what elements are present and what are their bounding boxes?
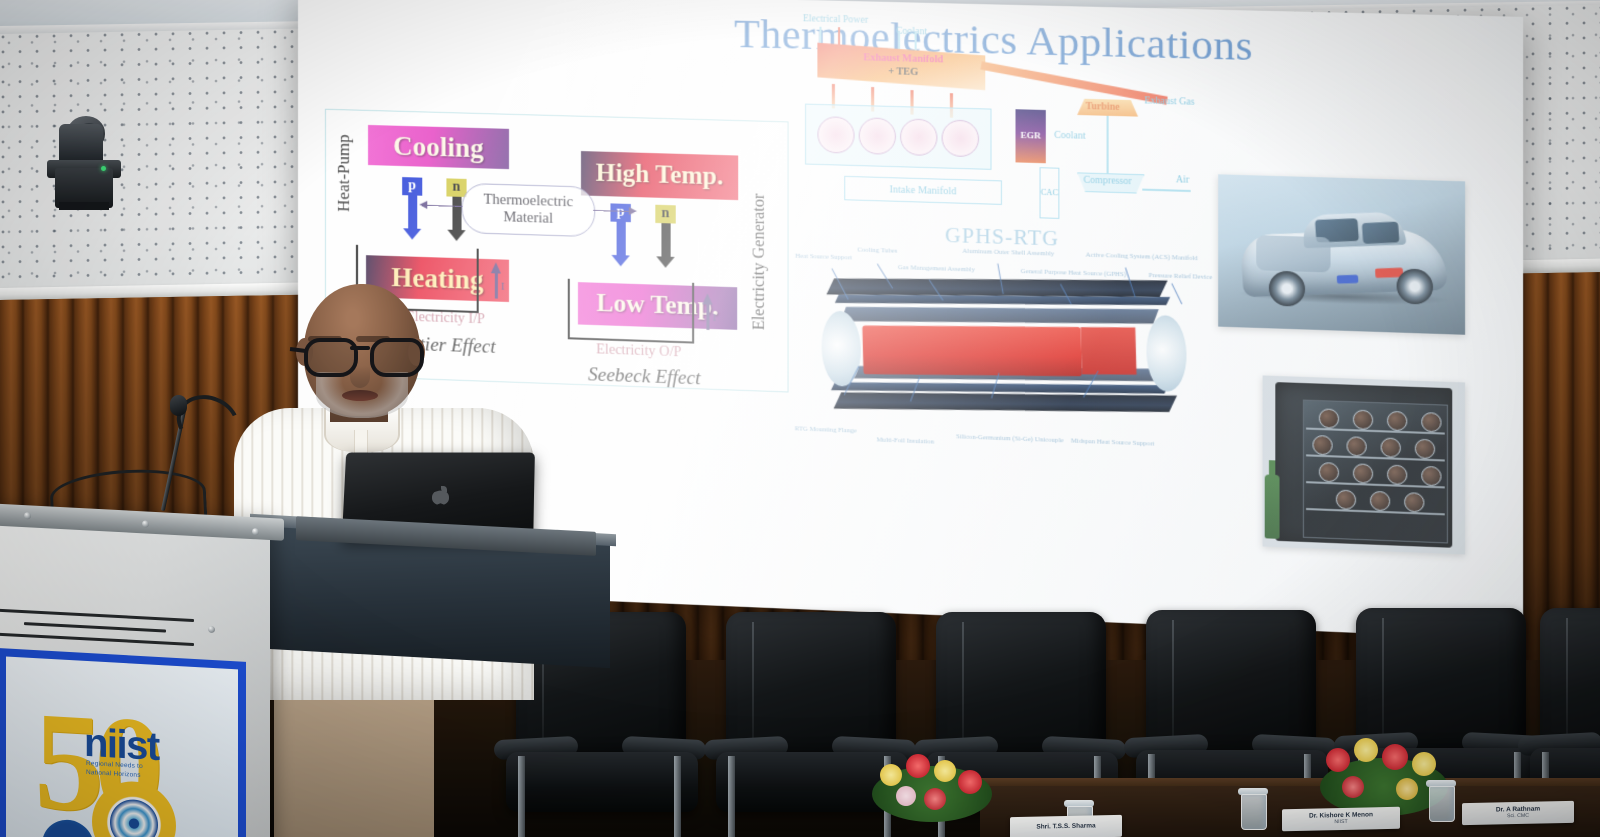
lecture-hall-scene: Thermoelectrics Applications Heat-Pump E… xyxy=(0,0,1600,837)
car-side-window xyxy=(1362,222,1400,244)
coolant-top-label: Coolant xyxy=(896,27,927,38)
bottle-7 xyxy=(1381,437,1401,457)
exhaust-pipe xyxy=(980,61,1167,104)
bottle-15 xyxy=(1404,492,1424,512)
rtg-label-5: Active Cooling System (ACS) Manifold xyxy=(1086,251,1168,261)
electricity-generator-label: Electricity Generator xyxy=(751,193,769,330)
intake-manifold-label: Intake Manifold xyxy=(889,184,956,197)
bottle-6 xyxy=(1346,436,1366,456)
podium-vent-2 xyxy=(24,622,166,632)
chair-leg-left xyxy=(518,756,525,837)
electricity-output-label: Electricity O/P xyxy=(596,342,681,361)
engine-teg-diagram: Electrical Power Coolant Exhaust Manifol… xyxy=(795,10,1212,215)
car-photo xyxy=(1218,174,1465,334)
rtg-heat-source-core-section xyxy=(1081,327,1137,375)
thermoelectric-material-box: Thermoelectric Material xyxy=(462,183,596,237)
p-leg-shaft-right xyxy=(616,222,625,256)
car-engine-cutaway xyxy=(1256,235,1330,272)
glasses-lens-right xyxy=(370,338,424,377)
nameplate-2: Dr. Kishore K Menon NIIST xyxy=(1282,807,1400,831)
bottle-1 xyxy=(1319,408,1339,428)
nameplate-2-org: NIIST xyxy=(1334,820,1347,826)
circuit-bracket-right xyxy=(568,279,694,344)
flower-red-3 xyxy=(924,788,946,810)
rtg-fin-bottom-1 xyxy=(834,392,1177,412)
standing-wine-bottle xyxy=(1265,474,1280,538)
turbine-label: Turbine xyxy=(1086,102,1120,113)
chair-leg-left xyxy=(728,756,735,837)
rtg-label-3: Aluminum Outer Shell Assembly xyxy=(962,248,1037,258)
flower-yellow-2 xyxy=(1412,752,1436,776)
bottle-5 xyxy=(1312,435,1332,455)
p-leg-arrow-right xyxy=(611,255,629,267)
egr-unit: EGR xyxy=(1016,109,1046,163)
podium-screw-3 xyxy=(252,528,259,535)
te-material-line1: Thermoelectric xyxy=(483,192,573,211)
n-leg-arrow-left xyxy=(447,230,465,242)
rtg-label-b1: Multi-Foil Insulation xyxy=(873,436,937,446)
flower-red-1 xyxy=(1326,748,1350,772)
camera-status-led xyxy=(101,166,106,171)
podium-vent-3 xyxy=(0,633,194,646)
electrical-power-label: Electrical Power xyxy=(803,14,868,26)
nameplate-1-name: Shri. T.S.S. Sharma xyxy=(1036,823,1095,831)
cooler-glass-door xyxy=(1303,400,1448,544)
bottle-13 xyxy=(1336,489,1356,509)
cylinder-2 xyxy=(859,117,896,155)
current-label-right: I xyxy=(713,312,717,324)
bottle-10 xyxy=(1353,463,1373,483)
flower-red-2 xyxy=(1382,744,1408,770)
bottle-2 xyxy=(1353,410,1373,430)
bottle-11 xyxy=(1387,465,1407,485)
speaker-mouth xyxy=(342,390,378,401)
air-inlet-line xyxy=(1142,189,1190,192)
flower-white-1 xyxy=(896,786,916,806)
speaker-trousers xyxy=(274,680,434,837)
thermoelectric-cooler-cabinet xyxy=(1275,382,1452,548)
niist-tagline: Regional Needs to National Horizons xyxy=(86,760,143,781)
bottle-12 xyxy=(1421,466,1441,486)
speaker-glasses-icon xyxy=(300,338,424,370)
water-glass-1[interactable] xyxy=(1241,794,1267,830)
podium-vent-1 xyxy=(0,609,194,622)
air-label: Air xyxy=(1176,175,1189,186)
apple-logo-icon xyxy=(432,486,449,505)
rtg-heat-source-core xyxy=(862,325,1082,376)
n-leg-arrow-right xyxy=(656,256,674,268)
p-leg-shaft-left xyxy=(408,195,417,228)
flower-yellow-3 xyxy=(1396,778,1418,800)
nameplate-3: Dr. A Rathnam Sci. CMC xyxy=(1462,801,1574,825)
flower-yellow-1 xyxy=(1354,738,1378,762)
rtg-label-b3: Midspan Heat Source Support xyxy=(1071,437,1147,447)
wine-cooler-photo xyxy=(1263,375,1466,554)
flower-red-2 xyxy=(958,770,982,794)
flower-red-3 xyxy=(1342,776,1364,798)
apple-logo-body xyxy=(432,490,449,505)
water-glass-2[interactable] xyxy=(1429,786,1455,822)
charge-air-cooler: CAC xyxy=(1040,167,1060,219)
bottle-3 xyxy=(1387,411,1407,431)
rtg-label-b2: Silicon-Germanium (Si-Ge) Unicouple xyxy=(956,433,1046,444)
intake-manifold: Intake Manifold xyxy=(844,176,1002,205)
camera-mount-plate xyxy=(59,202,109,210)
flower-yellow-2 xyxy=(934,760,956,782)
compressor-label: Compressor xyxy=(1083,176,1131,188)
glasses-lens-left xyxy=(304,338,358,377)
car-front-wheel xyxy=(1269,271,1305,307)
cylinder-1 xyxy=(817,116,854,154)
camera-yoke xyxy=(59,124,103,162)
gphs-rtg-diagram: GPHS-RTG Heat Source Support Cooling Tub… xyxy=(784,218,1222,468)
rtg-label-b0: RTG Mounting Flange xyxy=(795,425,855,435)
p-type-leg-right: p xyxy=(610,203,630,266)
rtg-label-0: Heat Source Support xyxy=(793,253,855,262)
rtg-label-1: Cooling Tubes xyxy=(848,246,906,255)
rtg-inner-shell-top xyxy=(841,307,1159,324)
bouquet-left xyxy=(862,740,1012,826)
glasses-bridge xyxy=(350,346,370,350)
rtg-end-cap-left xyxy=(821,311,862,387)
podium-screw-1 xyxy=(24,512,31,519)
apple-logo-leaf xyxy=(441,486,447,492)
cac-label: CAC xyxy=(1041,188,1058,197)
car-teg-highlight-blue xyxy=(1337,275,1359,284)
bottle-8 xyxy=(1415,439,1435,459)
chair-seat xyxy=(506,752,698,812)
te-material-line2: Material xyxy=(503,209,553,227)
cooling-tag: Cooling xyxy=(368,125,509,169)
nameplate-1: Shri. T.S.S. Sharma xyxy=(1010,815,1122,837)
cylinder-3 xyxy=(900,118,937,156)
current-arrow-right xyxy=(702,293,712,304)
n-leg-shaft-right xyxy=(661,223,670,257)
current-stem-right xyxy=(706,303,709,329)
n-leg-shaft-left xyxy=(452,197,461,230)
flower-yellow-1 xyxy=(880,764,902,786)
car-rear-wheel xyxy=(1397,268,1433,304)
podium-screw-front xyxy=(208,626,215,633)
coolant-side-label: Coolant xyxy=(1054,131,1086,142)
seebeck-effect-label: Seebeck Effect xyxy=(588,364,700,390)
current-arrow-left xyxy=(491,262,501,273)
flower-red-1 xyxy=(906,754,930,778)
cylinder-4 xyxy=(942,119,979,157)
exhaust-gas-label: Exhaust Gas xyxy=(1144,96,1194,108)
bottle-14 xyxy=(1370,491,1390,511)
bottle-4 xyxy=(1421,412,1441,432)
egr-label: EGR xyxy=(1020,131,1040,141)
podium-screw-2 xyxy=(142,520,149,527)
turbo-shaft xyxy=(1107,116,1109,173)
p-leg-arrow-left xyxy=(403,228,421,240)
high-temp-tag: High Temp. xyxy=(581,151,738,200)
niist-50-logo-panel: 50 niist Regional Needs to National Hori… xyxy=(0,648,246,837)
n-type-leg-right: n xyxy=(655,205,675,268)
nameplate-3-org: Sci. CMC xyxy=(1507,813,1529,819)
chair-leg-right xyxy=(674,756,681,837)
rtg-fin-top-2 xyxy=(835,295,1170,305)
heat-pump-label: Heat-Pump xyxy=(334,134,354,212)
bottle-9 xyxy=(1319,462,1339,482)
coolant-line-out xyxy=(915,31,917,51)
gooseneck-mic-capsule[interactable] xyxy=(170,395,187,416)
ptz-camera-rig xyxy=(33,106,129,210)
